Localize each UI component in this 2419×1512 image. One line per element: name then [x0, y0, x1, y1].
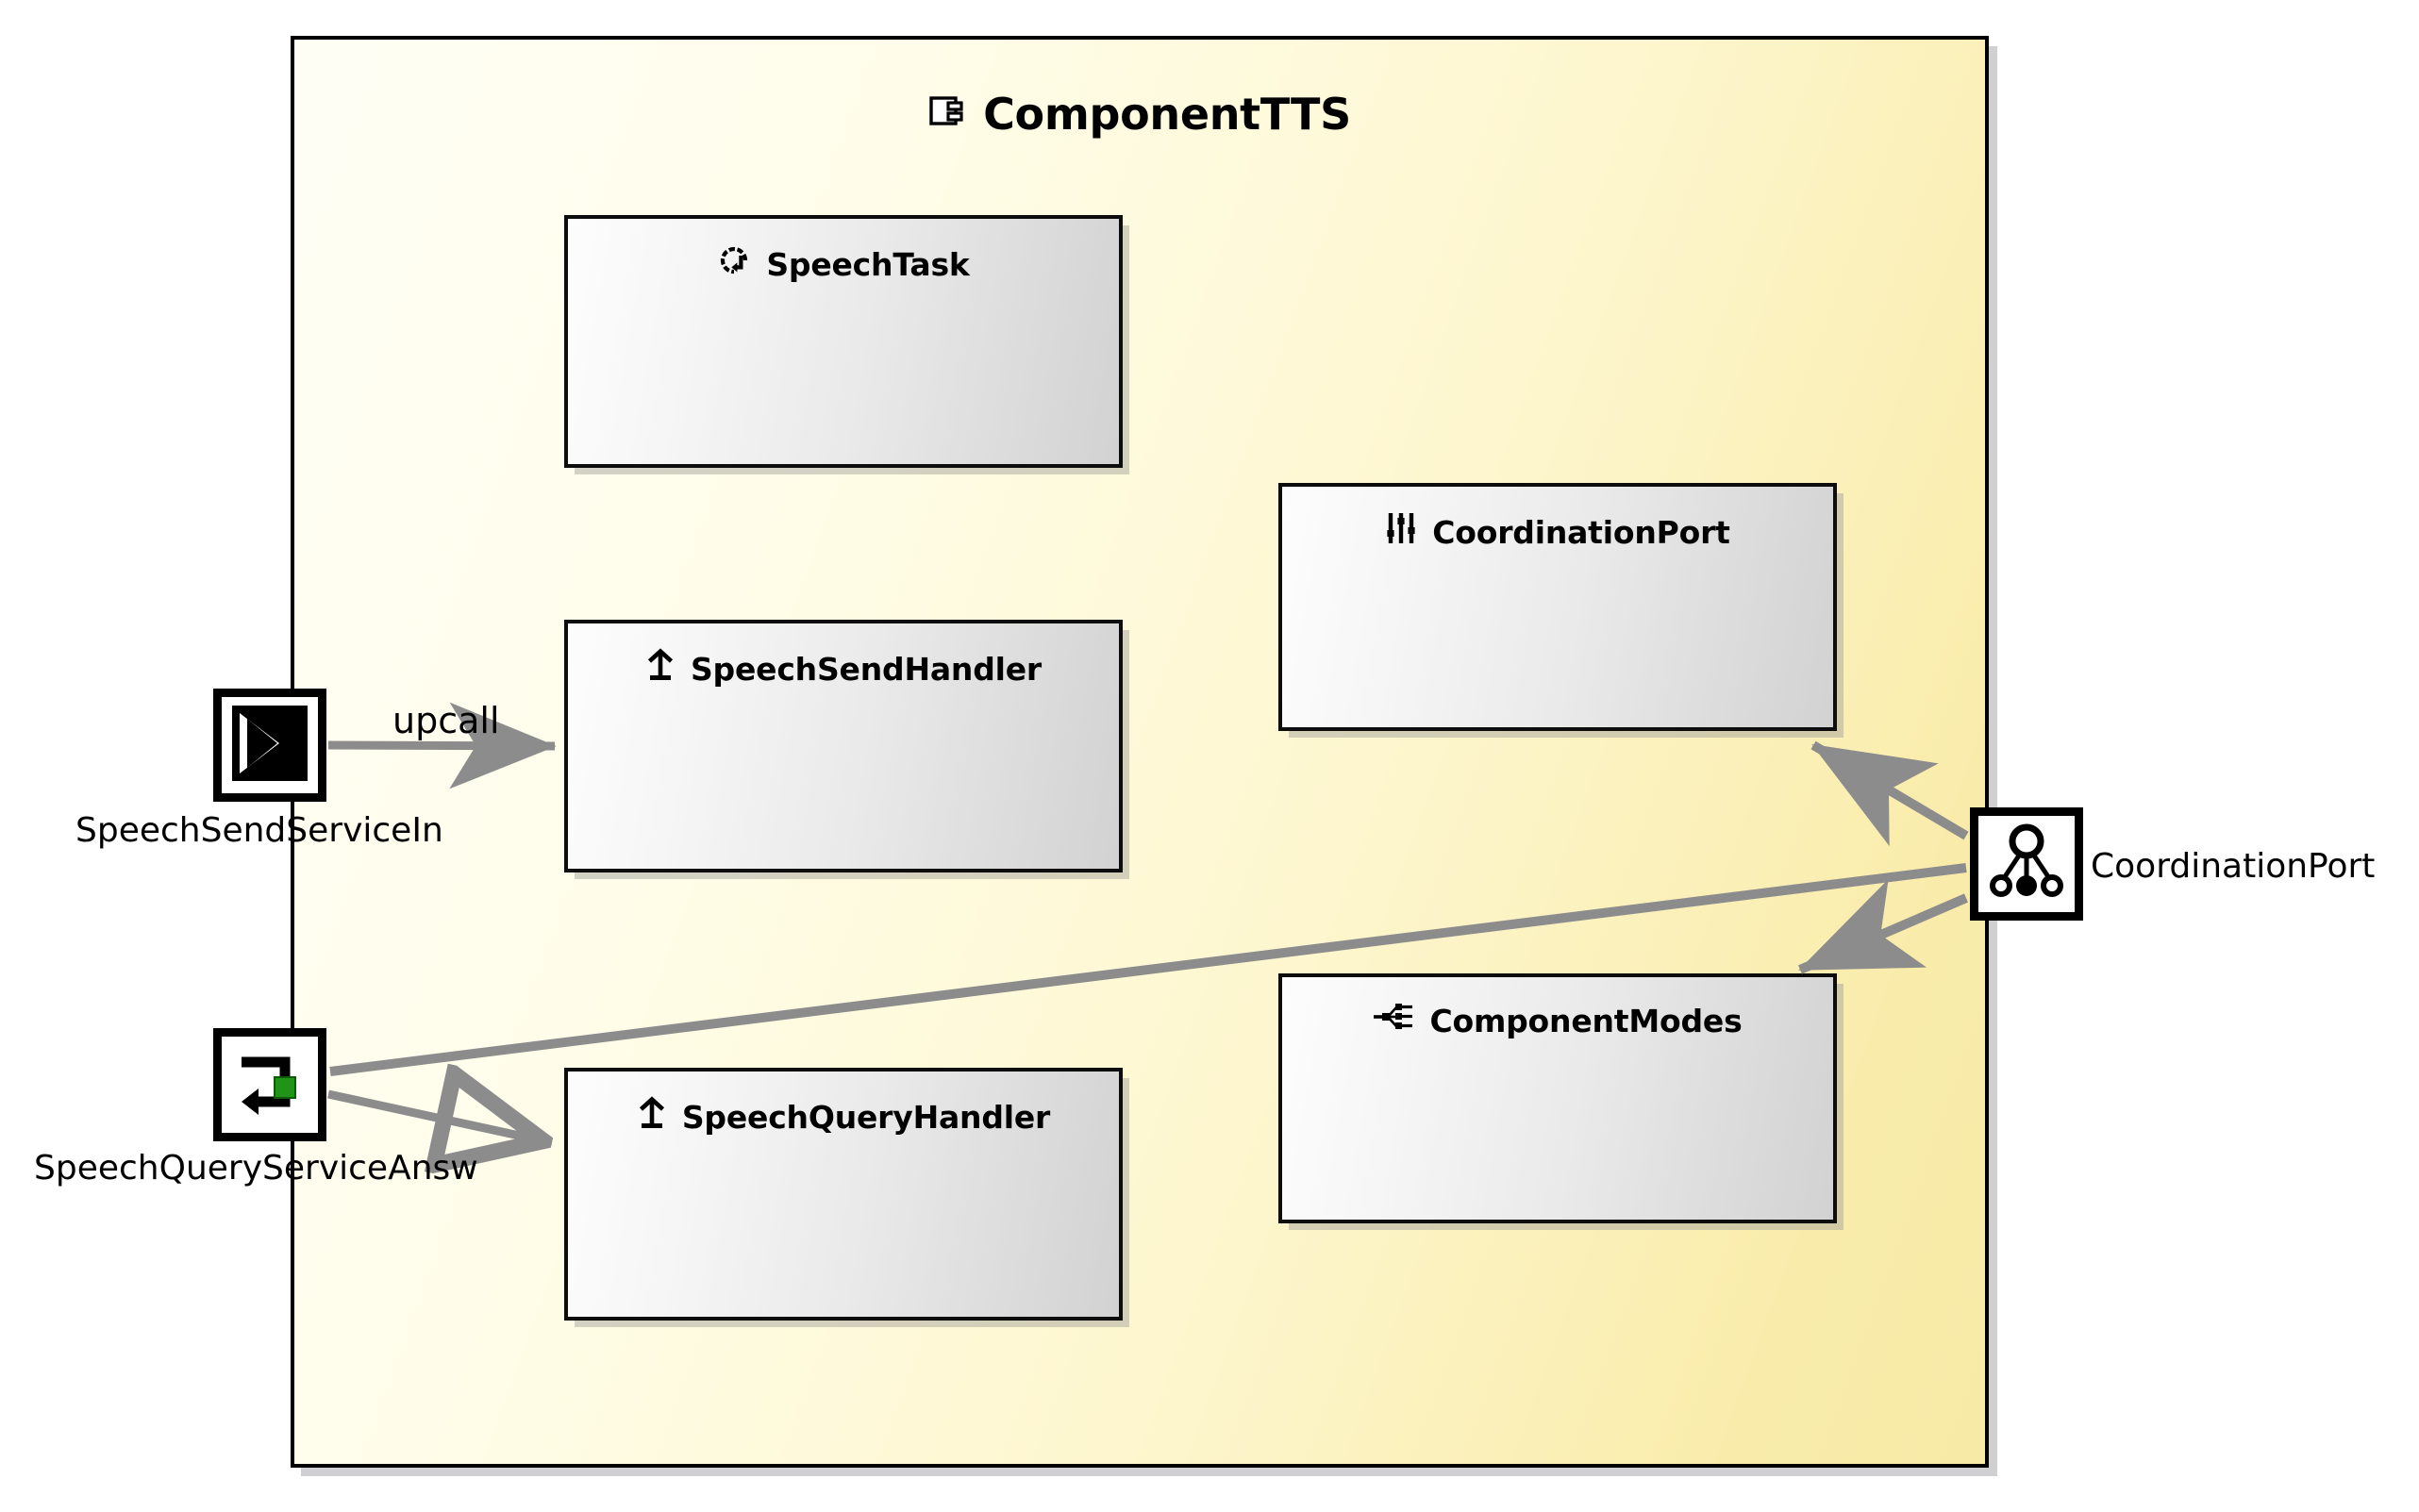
port-label-speechqueryserviceansw: SpeechQueryServiceAnsw	[34, 1149, 478, 1188]
element-box-coordinationport[interactable]: CoordinationPort	[1278, 483, 1837, 731]
element-box-speechtask[interactable]: SpeechTask	[564, 215, 1123, 468]
element-label: SpeechTask	[766, 246, 969, 283]
element-header: SpeechSendHandler	[568, 648, 1119, 690]
up-arrow-handler-icon	[645, 648, 676, 690]
connection-label-upcall: upcall	[392, 700, 500, 741]
port-speechsendservicein[interactable]	[213, 689, 326, 802]
element-label: CoordinationPort	[1432, 514, 1730, 551]
component-title: ComponentTTS	[294, 89, 1985, 140]
component-frame[interactable]: ComponentTTS	[291, 36, 1989, 1468]
task-loop-icon	[717, 243, 751, 285]
sliders-icon	[1385, 511, 1417, 553]
element-header: SpeechQueryHandler	[568, 1096, 1119, 1138]
element-label: SpeechSendHandler	[691, 651, 1042, 688]
diagram-canvas: ComponentTTS	[0, 0, 2419, 1512]
element-header: SpeechTask	[568, 243, 1119, 285]
modes-tree-icon	[1373, 1002, 1414, 1039]
element-label: SpeechQueryHandler	[682, 1099, 1050, 1136]
component-title-text: ComponentTTS	[983, 89, 1351, 140]
port-speechqueryserviceansw[interactable]	[213, 1028, 326, 1141]
query-answer-port-icon	[230, 1043, 309, 1126]
port-label-speechsendservicein: SpeechSendServiceIn	[75, 811, 443, 850]
element-box-speechsendhandler[interactable]: SpeechSendHandler	[564, 620, 1123, 872]
up-arrow-handler-icon	[637, 1096, 667, 1138]
send-in-port-icon	[230, 704, 309, 787]
element-box-componentmodes[interactable]: ComponentModes	[1278, 973, 1837, 1223]
element-header: CoordinationPort	[1282, 511, 1833, 553]
coordination-port-icon	[1987, 822, 2066, 906]
port-coordinationport[interactable]	[1970, 807, 2083, 921]
port-label-coordinationport: CoordinationPort	[2091, 847, 2375, 886]
element-label: ComponentModes	[1429, 1003, 1742, 1039]
component-icon	[928, 89, 966, 140]
element-header: ComponentModes	[1282, 1002, 1833, 1039]
element-box-speechqueryhandler[interactable]: SpeechQueryHandler	[564, 1068, 1123, 1321]
